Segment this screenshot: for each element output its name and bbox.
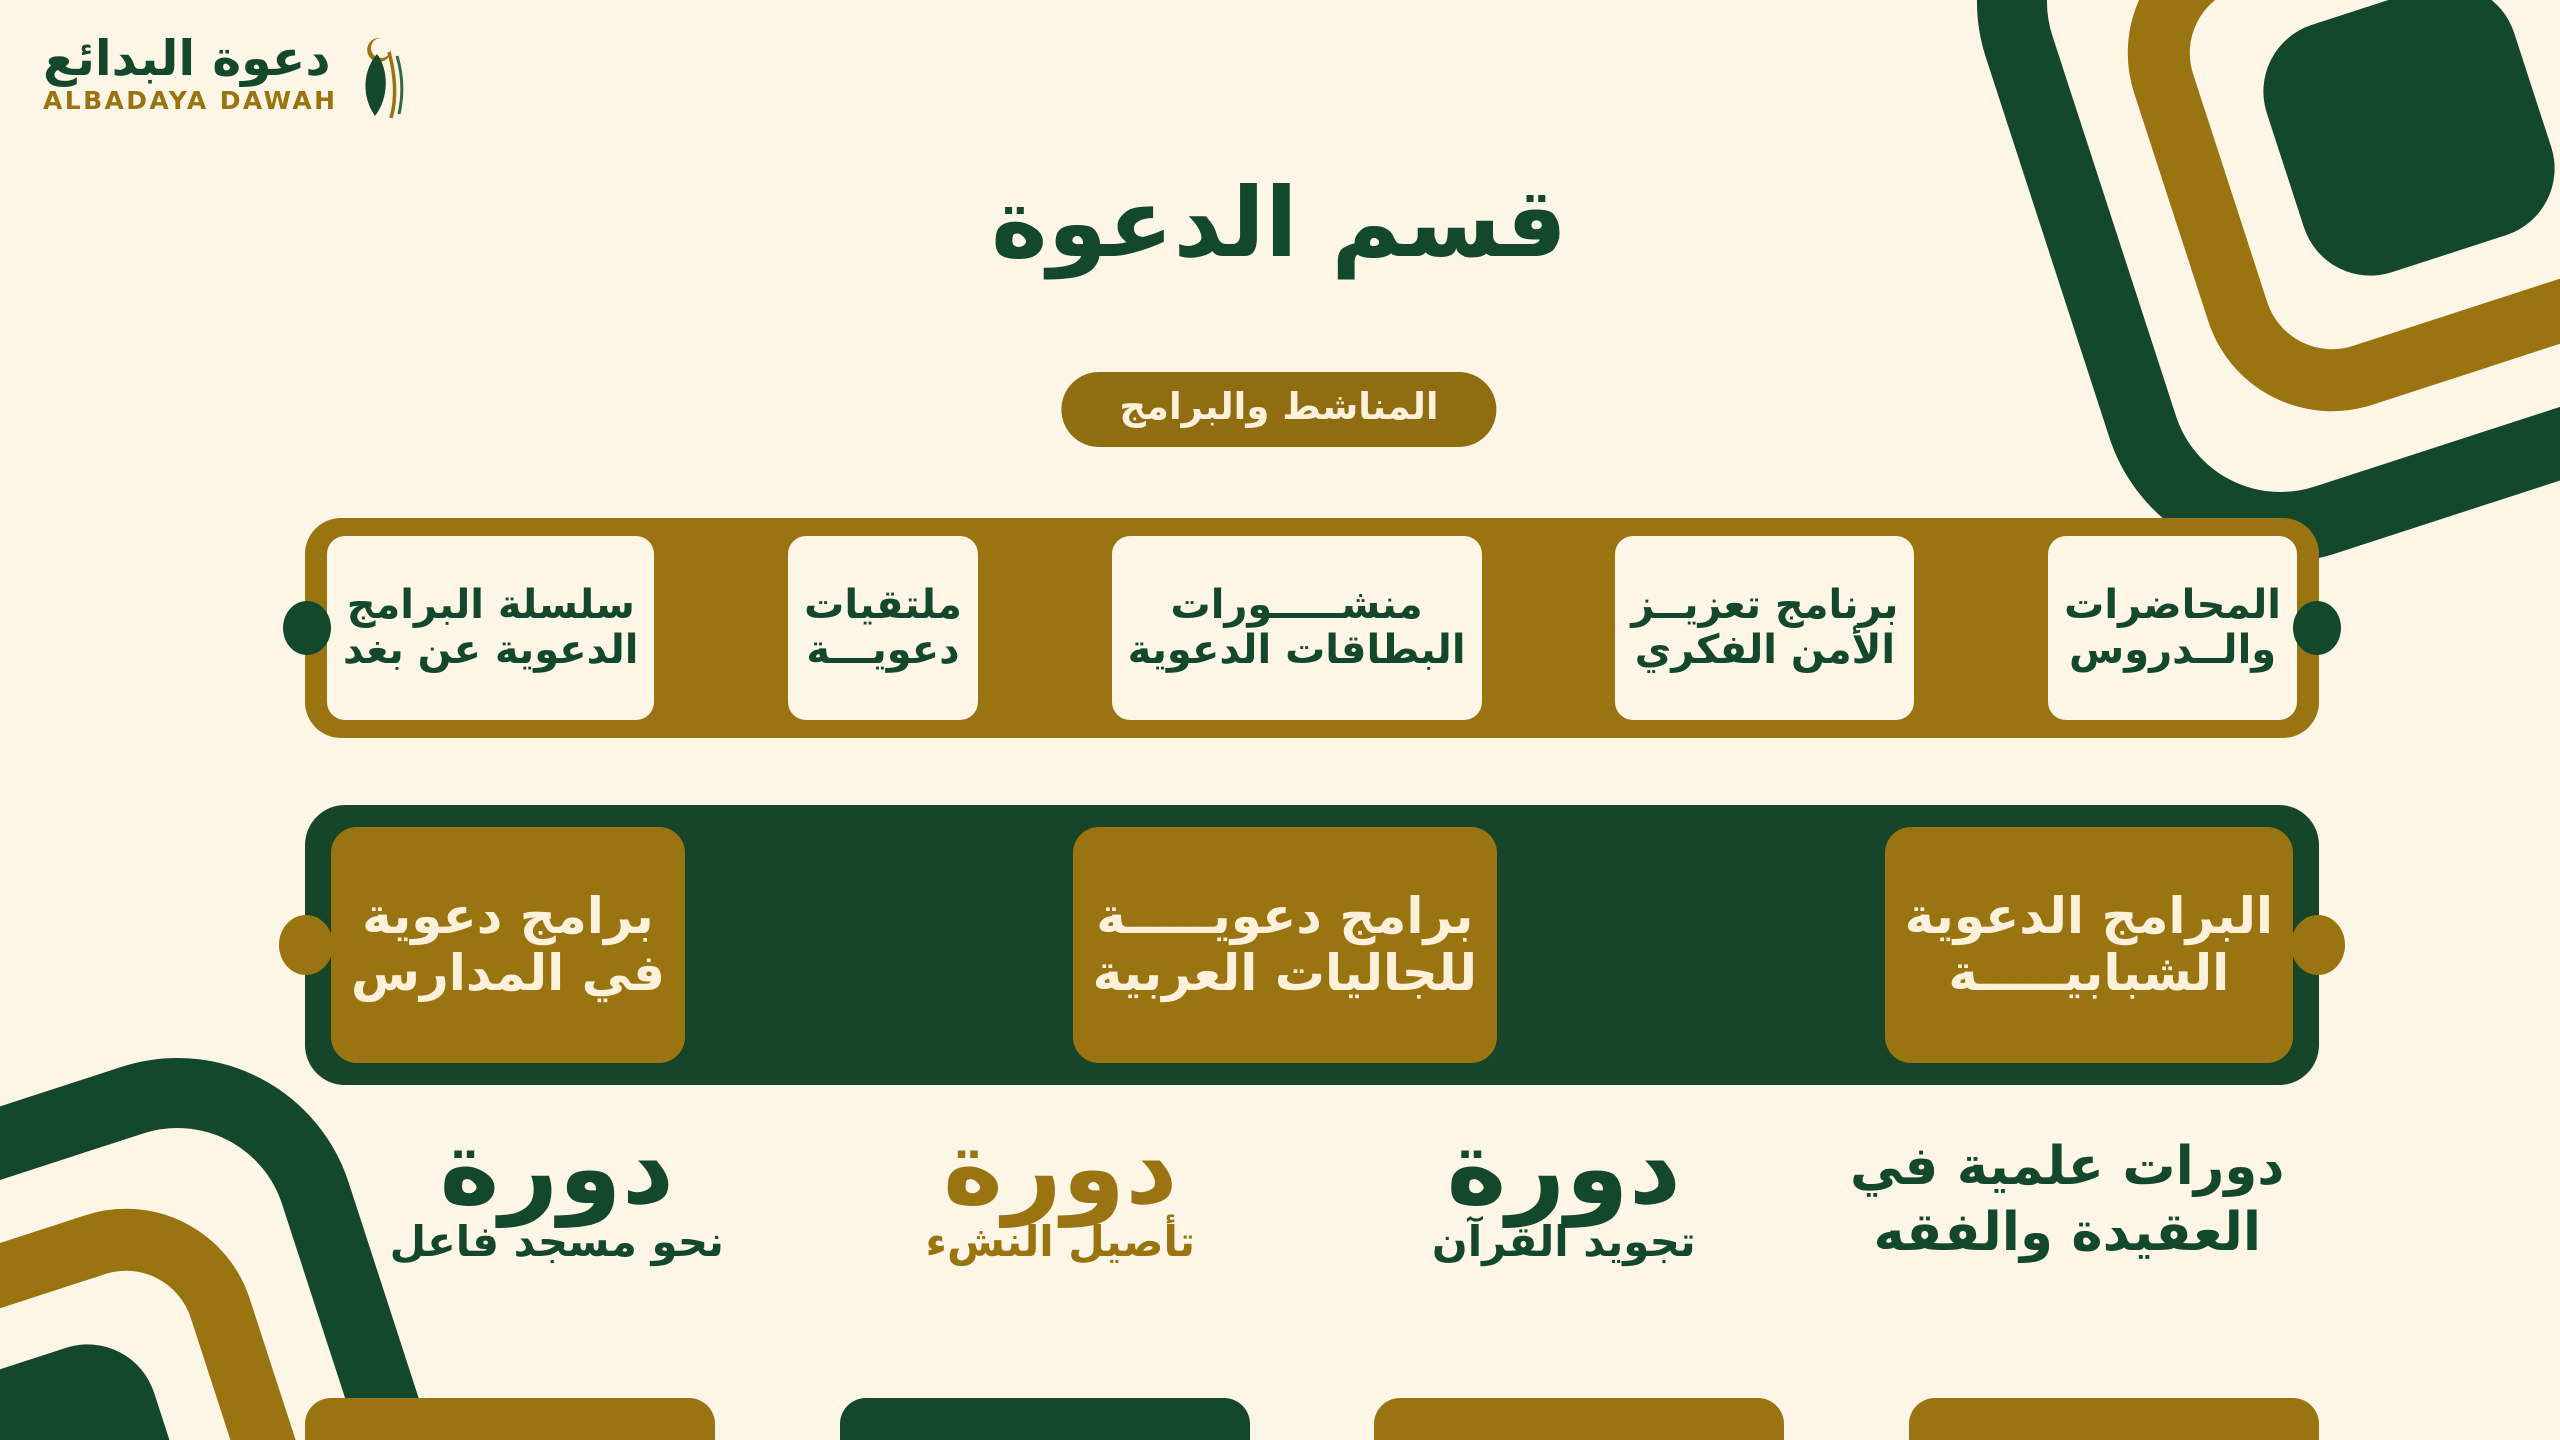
card-line-1: المحاضرات [2065,583,2282,628]
band-cap-right-circle [2292,915,2346,975]
card-line-2: البطاقات الدعوية [1129,628,1467,673]
card-line-1: ملتقيات [805,583,963,628]
program-card[interactable]: المحاضرات والــدروس [2049,536,2298,720]
course-headline: دورة [944,1120,1179,1218]
course-subtitle: تأصيل النشء [926,1220,1196,1264]
programs-band-green: البرامج الدعوية الشبابيـــــة برامج دعوي… [306,805,2320,1085]
program-card[interactable]: ملتقيات دعويـــة [789,536,979,720]
card-line-2: الدعوية عن بغد [344,628,639,673]
peek-card-top[interactable] [1910,1398,2320,1440]
course-line-1: دورات علمية في [1851,1134,2285,1200]
page-title: قسم الدعوة [0,175,2560,271]
brand-logo: دعوة البدائع ALBADAYA DAWAH [44,26,408,122]
programs-band-gold: المحاضرات والــدروس برنامج تعزيــز الأمن… [306,518,2320,738]
card-line-2: دعويـــة [807,628,960,673]
course-headline: دورة [440,1120,675,1218]
card-line-1: برنامج تعزيــز [1632,583,1899,628]
card-line-1: البرامج الدعوية [1906,888,2274,946]
peek-card-top[interactable] [306,1398,716,1440]
card-line-1: سلسلة البرامج [348,583,636,628]
band-cap-right-circle [2294,601,2342,655]
program-card[interactable]: برنامج تعزيــز الأمن الفكري [1616,536,1915,720]
ornament-core-green [0,1326,214,1440]
program-card[interactable]: برامج دعويـــــة للجاليات العربية [1074,827,1498,1063]
program-card[interactable]: البرامج الدعوية الشبابيـــــة [1886,827,2294,1063]
course-headline: دورة [1447,1120,1682,1218]
card-line-1: منشـــــورات [1172,583,1424,628]
program-card[interactable]: سلسلة البرامج الدعوية عن بغد [328,536,655,720]
card-line-1: برامج دعوية [363,888,655,946]
program-card[interactable]: منشـــــورات البطاقات الدعوية [1113,536,1483,720]
next-section-card-tops [306,1398,2320,1440]
program-card[interactable]: برامج دعوية في المدارس [332,827,686,1063]
course-two-line-label: دورات علمية في العقيدة والفقه [1851,1120,2285,1267]
course-item[interactable]: دورات علمية في العقيدة والفقه [1817,1120,2321,1267]
band-cap-left-circle [280,915,334,975]
subtitle-badge: المناشط والبرامج [1062,372,1497,447]
courses-section: دورات علمية في العقيدة والفقه دورة تجويد… [306,1120,2320,1440]
logo-arabic-text: دعوة البدائع [44,33,332,85]
logo-english-text: ALBADAYA DAWAH [44,86,338,115]
course-subtitle: تجويد القرآن [1433,1220,1697,1264]
course-item[interactable]: دورة نحو مسجد فاعل [306,1120,810,1264]
course-item[interactable]: دورة تأصيل النشء [810,1120,1314,1264]
card-line-2: الأمن الفكري [1636,628,1897,673]
course-item[interactable]: دورة تجويد القرآن [1313,1120,1817,1264]
course-subtitle: نحو مسجد فاعل [391,1220,725,1264]
card-line-2: الشبابيـــــة [1949,945,2230,1003]
card-line-2: في المدارس [352,945,666,1003]
card-line-2: والــدروس [2070,628,2277,673]
peek-card-top[interactable] [841,1398,1251,1440]
card-line-1: برامج دعويـــــة [1097,888,1474,946]
band-cap-left-circle [284,601,332,655]
leaf-crescent-logo-icon [352,26,408,122]
peek-card-top[interactable] [1375,1398,1785,1440]
card-line-2: للجاليات العربية [1094,945,1478,1003]
course-line-2: العقيدة والفقه [1851,1200,2285,1266]
